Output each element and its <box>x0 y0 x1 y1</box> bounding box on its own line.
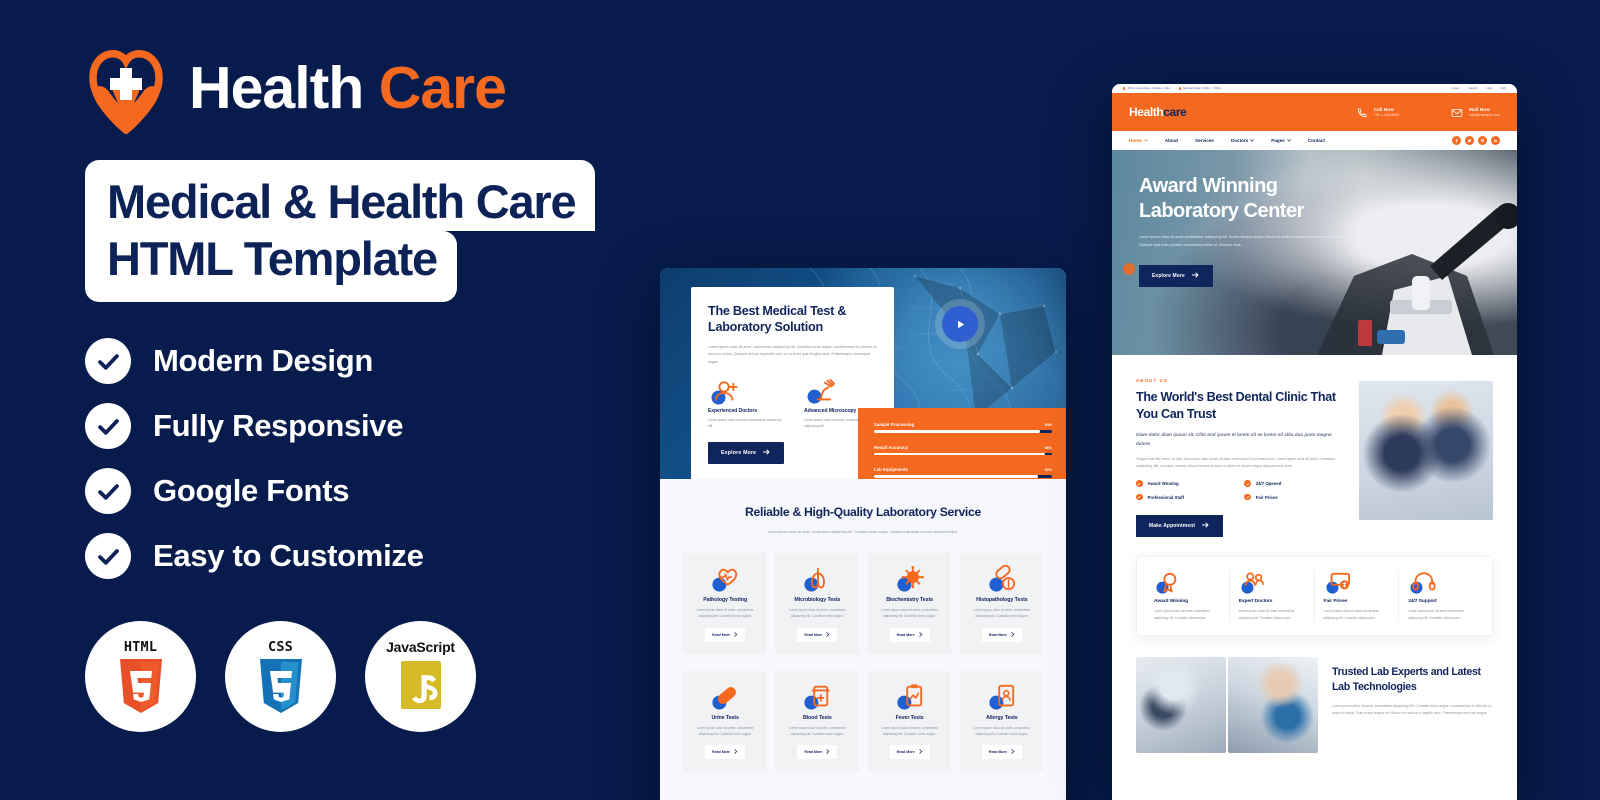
center-hero-feature: Experienced Doctors Lorem ipsum dolor si… <box>708 379 782 430</box>
lab-photo-left <box>1136 657 1226 753</box>
feature-card-text: Lorem ipsum dolor sit amet consectetur a… <box>1408 608 1475 621</box>
check-circle-icon <box>85 468 131 514</box>
right-explore-more-button[interactable]: Explore More <box>1139 265 1213 287</box>
center-hero-feature-text: Lorem ipsum dolor sit amet consectetur a… <box>708 417 782 430</box>
service-title: Allergy Tests <box>970 715 1034 721</box>
css3-badge: CSS <box>225 621 336 732</box>
nav-item-about[interactable]: About <box>1165 138 1178 143</box>
read-more-label: Read More <box>712 633 730 637</box>
headline-line-1: Medical & Health Care <box>85 160 595 231</box>
stat-bar: Lab Equipments 92% <box>874 467 1052 478</box>
about-check-item: Professional Staff <box>1136 494 1234 501</box>
service-text: Lorem ipsum dolor sit amet, consectetur … <box>693 607 757 619</box>
center-explore-more-label: Explore More <box>721 450 756 456</box>
lab-photo-right <box>1228 657 1318 753</box>
capsule-pill-icon <box>970 565 1034 593</box>
check-icon <box>1244 480 1251 487</box>
javascript-badge: JavaScript <box>365 621 476 732</box>
about-check-item: 24/7 Opened <box>1244 480 1342 487</box>
feature-label: Easy to Customize <box>153 538 424 574</box>
stat-bar: Sample Processing 93% <box>874 422 1052 433</box>
read-more-label: Read More <box>804 750 822 754</box>
pill-icon <box>693 683 757 711</box>
service-text: Lorem ipsum dolor sit amet, consectetur … <box>878 607 942 619</box>
play-button-icon[interactable] <box>942 306 978 342</box>
doctors-group-icon <box>1239 571 1305 596</box>
service-read-more-link[interactable]: Read More <box>705 745 745 759</box>
stat-fill <box>874 430 1040 433</box>
instagram-icon[interactable] <box>1478 136 1487 145</box>
user-plus-icon <box>708 379 782 405</box>
feature-card[interactable]: Expert Doctors Lorem ipsum dolor sit ame… <box>1230 571 1315 621</box>
stat-value: 92% <box>1045 468 1052 472</box>
center-services-subtitle: Lorem ipsum dolor sit amet, consectetur … <box>738 529 988 536</box>
center-hero: The Best Medical Test & Laboratory Solut… <box>660 268 1066 479</box>
make-appointment-button[interactable]: Make Appointment <box>1136 515 1223 537</box>
feature-card[interactable]: Award Winning Lorem ipsum dolor sit amet… <box>1145 571 1230 621</box>
service-title: Pathology Testing <box>693 597 757 603</box>
check-icon <box>1244 494 1251 501</box>
feature-label: Modern Design <box>153 343 373 379</box>
about-eyebrow: ABOUT US <box>1136 378 1343 383</box>
center-services-grid-row1: Pathology Testing Lorem ipsum dolor sit … <box>660 553 1066 653</box>
service-card[interactable]: Biochemistry Tests Lorem ipsum dolor sit… <box>868 553 951 653</box>
brand-name-secondary: Care <box>379 55 506 121</box>
about-check-item: Fair Prices <box>1244 494 1342 501</box>
service-read-more-link[interactable]: Read More <box>982 628 1022 642</box>
clipboard-chart-icon <box>878 683 942 711</box>
topbar-hours: Monday-Friday: 9.00am - 7.00pm <box>1179 87 1222 90</box>
service-title: Urine Tests <box>693 715 757 721</box>
about-check-label: Award Winning <box>1148 481 1179 486</box>
chevron-right-icon <box>734 749 738 755</box>
service-title: Biochemistry Tests <box>878 597 942 603</box>
right-header: Healthcare Call Now +91 1-345-5253 <box>1112 93 1517 131</box>
check-circle-icon <box>85 403 131 449</box>
check-icon <box>1136 494 1143 501</box>
right-feature-cards: Award Winning Lorem ipsum dolor sit amet… <box>1136 556 1493 636</box>
right-hero-body: Lorem ipsum dolor sit amet consectetur a… <box>1139 234 1344 250</box>
trust-body: Lorem ipsum dolor sit amet, consectetur … <box>1332 703 1493 717</box>
stat-value: 93% <box>1045 423 1052 427</box>
center-services-grid-row2: Urine Tests Lorem ipsum dolor sit amet, … <box>660 671 1066 771</box>
read-more-label: Read More <box>712 750 730 754</box>
html5-label: HTML <box>124 639 157 655</box>
call-now-label: Call Now <box>1374 107 1399 112</box>
right-logo-primary: Health <box>1129 105 1163 119</box>
chevron-down-icon <box>1144 138 1148 143</box>
service-card[interactable]: Histopathology Tests Lorem ipsum dolor s… <box>960 553 1043 653</box>
call-now-number: +91 1-345-5253 <box>1374 113 1399 117</box>
service-read-more-link[interactable]: Read More <box>890 745 930 759</box>
right-topbar: 123 Av. Greenhouse, Frankfurt, India Mon… <box>1112 84 1517 93</box>
right-about-section: ABOUT US The World's Best Dental Clinic … <box>1112 355 1517 537</box>
phone-icon <box>1356 106 1368 118</box>
stat-label: Sample Processing <box>874 422 914 427</box>
check-circle-icon <box>85 338 131 384</box>
chevron-right-icon <box>1011 632 1015 638</box>
read-more-label: Read More <box>804 633 822 637</box>
feature-card-text: Lorem ipsum dolor sit amet consectetur a… <box>1324 608 1390 621</box>
center-hero-feature-title: Experienced Doctors <box>708 408 782 414</box>
brand-name-primary: Health <box>189 55 363 121</box>
service-text: Lorem ipsum dolor sit amet, consectetur … <box>970 607 1034 619</box>
social-links <box>1452 136 1500 145</box>
feature-card-title: Expert Doctors <box>1239 599 1305 604</box>
service-read-more-link[interactable]: Read More <box>982 745 1022 759</box>
service-card[interactable]: Pathology Testing Lorem ipsum dolor sit … <box>683 553 766 653</box>
feature-card-title: Fair Prices <box>1324 599 1390 604</box>
about-checklist: Award Winning 24/7 Opened Professional S… <box>1136 480 1343 500</box>
service-read-more-link[interactable]: Read More <box>705 628 745 642</box>
service-card[interactable]: Urine Tests Lorem ipsum dolor sit amet, … <box>683 671 766 771</box>
read-more-label: Read More <box>897 750 915 754</box>
read-more-label: Read More <box>989 750 1007 754</box>
service-text: Lorem ipsum dolor sit amet, consectetur … <box>878 725 942 737</box>
chevron-right-icon <box>826 749 830 755</box>
nav-item-services[interactable]: Services <box>1195 138 1214 143</box>
about-title: The World's Best Dental Clinic That You … <box>1136 389 1343 422</box>
stat-label: Lab Equipments <box>874 467 908 472</box>
arrow-right-icon <box>1202 522 1210 530</box>
money-price-icon <box>1324 571 1390 596</box>
hero-accent-dot <box>1123 263 1135 275</box>
lungs-icon <box>785 565 849 593</box>
service-title: Fever Tests <box>878 715 942 721</box>
service-card[interactable]: Fever Tests Lorem ipsum dolor sit amet, … <box>868 671 951 771</box>
html5-badge: HTML <box>85 621 196 732</box>
service-card[interactable]: Microbiology Tests Lorem ipsum dolor sit… <box>775 553 858 653</box>
header-call-block[interactable]: Call Now +91 1-345-5253 <box>1356 106 1399 118</box>
stat-fill <box>874 475 1038 478</box>
nav-item-contact[interactable]: Contact <box>1308 138 1325 143</box>
headline-line-2: HTML Template <box>85 231 457 302</box>
linkedin-icon[interactable] <box>1491 136 1500 145</box>
feature-card-title: Award Winning <box>1154 599 1220 604</box>
mail-now-label: Mail Now <box>1469 107 1500 112</box>
feature-label: Fully Responsive <box>153 408 403 444</box>
topbar-link-career[interactable]: Career <box>1451 87 1459 90</box>
topbar-link-faq[interactable]: FAQ <box>1501 87 1506 90</box>
right-mockup: 123 Av. Greenhouse, Frankfurt, India Mon… <box>1112 84 1517 800</box>
heart-pulse-icon <box>693 565 757 593</box>
chevron-down-icon <box>1287 138 1291 143</box>
about-check-item: Award Winning <box>1136 480 1234 487</box>
read-more-label: Read More <box>989 633 1007 637</box>
check-icon <box>1136 480 1143 487</box>
chevron-right-icon <box>826 632 830 638</box>
about-body: Tempor erat elitr rebum at clita. Diam d… <box>1136 456 1343 470</box>
chevron-right-icon <box>1011 749 1015 755</box>
right-hero-content: Award Winning Laboratory Center Lorem ip… <box>1139 174 1359 287</box>
feature-label: Google Fonts <box>153 473 349 509</box>
about-check-label: Fair Prices <box>1256 495 1278 500</box>
nav-item-doctors[interactable]: Doctors <box>1231 138 1254 143</box>
right-hero: Award Winning Laboratory Center Lorem ip… <box>1112 150 1517 355</box>
stat-bar: Result Accuracy 96% <box>874 445 1052 456</box>
about-check-label: 24/7 Opened <box>1256 481 1282 486</box>
about-check-label: Professional Staff <box>1148 495 1185 500</box>
right-navbar: Home About Services Doctors Pages Contac… <box>1112 131 1517 150</box>
service-text: Lorem ipsum dolor sit amet, consectetur … <box>693 725 757 737</box>
chevron-down-icon <box>1250 138 1254 143</box>
service-text: Lorem ipsum dolor sit amet, consectetur … <box>785 725 849 737</box>
make-appointment-label: Make Appointment <box>1149 523 1195 529</box>
service-card[interactable]: Allergy Tests Lorem ipsum dolor sit amet… <box>960 671 1043 771</box>
javascript-icon <box>396 657 446 715</box>
feature-card-text: Lorem ipsum dolor sit amet consectetur a… <box>1239 608 1305 621</box>
chevron-right-icon <box>919 749 923 755</box>
center-hero-title: The Best Medical Test & Laboratory Solut… <box>708 303 878 335</box>
stat-value: 96% <box>1045 446 1052 450</box>
service-text: Lorem ipsum dolor sit amet, consectetur … <box>970 725 1034 737</box>
service-read-more-link[interactable]: Read More <box>797 628 837 642</box>
virus-icon <box>878 565 942 593</box>
center-hero-body: Lorem ipsum dolor sit amet, consectetur … <box>708 344 878 366</box>
nav-item-home[interactable]: Home <box>1129 138 1148 143</box>
twitter-icon[interactable] <box>1465 136 1474 145</box>
chevron-right-icon <box>734 632 738 638</box>
service-title: Histopathology Tests <box>970 597 1034 603</box>
report-card-icon <box>970 683 1034 711</box>
javascript-label: JavaScript <box>386 639 455 655</box>
blood-vial-icon <box>785 683 849 711</box>
feature-card[interactable]: 24/7 Support Lorem ipsum dolor sit amet … <box>1399 571 1484 621</box>
poster-canvas: Health Care Medical & Health Care HTML T… <box>0 0 1600 800</box>
trust-title: Trusted Lab Experts and Latest Lab Techn… <box>1332 665 1493 694</box>
right-hero-title: Award Winning Laboratory Center <box>1139 174 1359 224</box>
arrow-right-icon <box>1192 272 1200 280</box>
headset-support-icon <box>1408 571 1475 596</box>
topbar-address: 123 Av. Greenhouse, Frankfurt, India <box>1123 87 1170 90</box>
clock-icon <box>1179 87 1181 89</box>
brand-lockup: Health Care <box>85 38 785 138</box>
css3-shield-icon <box>256 657 306 715</box>
service-title: Blood Tests <box>785 715 849 721</box>
right-explore-more-label: Explore More <box>1152 273 1185 279</box>
trophy-icon <box>1154 571 1220 596</box>
center-mockup: The Best Medical Test & Laboratory Solut… <box>660 268 1066 800</box>
css3-label: CSS <box>268 639 293 655</box>
stat-fill <box>874 453 1045 456</box>
html5-shield-icon <box>116 657 166 715</box>
feature-card-title: 24/7 Support <box>1408 599 1475 604</box>
center-explore-more-button[interactable]: Explore More <box>708 442 784 464</box>
about-lead: Diam dolor diam ipsum sit. Clita erat ip… <box>1136 431 1343 447</box>
right-logo[interactable]: Healthcare <box>1129 105 1186 119</box>
center-services-section: Reliable & High-Quality Laboratory Servi… <box>660 479 1066 771</box>
read-more-label: Read More <box>897 633 915 637</box>
service-text: Lorem ipsum dolor sit amet, consectetur … <box>785 607 849 619</box>
envelope-icon <box>1451 106 1463 118</box>
stat-label: Result Accuracy <box>874 445 908 450</box>
lab-photos <box>1136 657 1318 753</box>
right-trust-section: Trusted Lab Experts and Latest Lab Techn… <box>1136 657 1493 753</box>
heart-hands-cross-icon <box>85 42 167 134</box>
nav-item-pages[interactable]: Pages <box>1271 138 1291 143</box>
location-pin-icon <box>1123 87 1125 89</box>
chevron-right-icon <box>919 632 923 638</box>
header-mail-block[interactable]: Mail Now info@example.com <box>1451 106 1500 118</box>
arrow-right-icon <box>763 449 771 457</box>
doctors-photo <box>1359 381 1493 520</box>
service-title: Microbiology Tests <box>785 597 849 603</box>
center-stats-panel: Sample Processing 93% Result Accuracy 96… <box>858 408 1066 479</box>
topbar-link-support[interactable]: Support <box>1468 87 1477 90</box>
feature-card-text: Lorem ipsum dolor sit amet consectetur a… <box>1154 608 1220 621</box>
service-read-more-link[interactable]: Read More <box>890 628 930 642</box>
facebook-icon[interactable] <box>1452 136 1461 145</box>
service-card[interactable]: Blood Tests Lorem ipsum dolor sit amet, … <box>775 671 858 771</box>
center-hero-features: Experienced Doctors Lorem ipsum dolor si… <box>708 379 878 430</box>
right-logo-secondary: care <box>1163 105 1186 119</box>
mail-now-address: info@example.com <box>1469 113 1500 117</box>
feature-card[interactable]: Fair Prices Lorem ipsum dolor sit amet c… <box>1315 571 1400 621</box>
brand-name: Health Care <box>189 59 506 118</box>
check-circle-icon <box>85 533 131 579</box>
topbar-link-help[interactable]: Help <box>1486 87 1491 90</box>
microscope-icon <box>804 379 878 405</box>
center-services-title: Reliable & High-Quality Laboratory Servi… <box>660 505 1066 521</box>
service-read-more-link[interactable]: Read More <box>797 745 837 759</box>
